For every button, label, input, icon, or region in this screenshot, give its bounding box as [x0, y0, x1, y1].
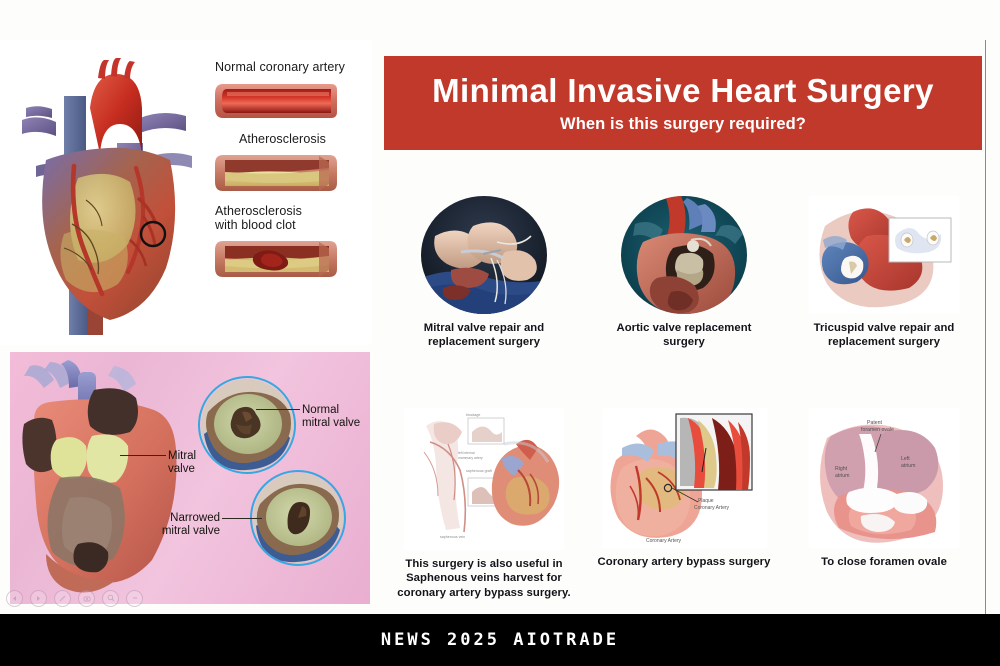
svg-text:blockage: blockage	[466, 413, 480, 417]
bottom-ticker-bar: NEWS 2025 AIOTRADE	[0, 614, 1000, 666]
indication-caption: This surgery is also useful in Saphenous…	[389, 557, 579, 600]
indication-caption: Aortic valve replacement surgery	[596, 321, 772, 350]
play-icon[interactable]	[30, 590, 47, 607]
svg-text:atrium: atrium	[835, 473, 849, 479]
heart-cross-section-illustration	[16, 358, 196, 598]
svg-text:Coronary Artery: Coronary Artery	[694, 505, 730, 511]
indication-caption: To close foramen ovale	[796, 555, 972, 569]
zoom-in-icon[interactable]	[102, 590, 119, 607]
label-narrowed-mitral-valve: Narrowed mitral valve	[128, 512, 220, 539]
title-banner: Minimal Invasive Heart Surgery When is t…	[384, 56, 982, 150]
cabg-diagram: Plaque Coronary Artery Coronary Artery	[602, 408, 767, 548]
atherosclerosis-clot-artery-art	[215, 238, 337, 280]
banner-subtitle: When is this surgery required?	[560, 116, 806, 133]
svg-text:Patent: Patent	[867, 420, 883, 426]
svg-text:atrium: atrium	[901, 463, 915, 469]
normal-coronary-artery-art	[215, 80, 337, 122]
leader-line-narrowed	[222, 518, 262, 519]
slide-right-border	[985, 40, 986, 614]
svg-text:.: .	[869, 305, 870, 309]
indication-caption: Coronary artery bypass surgery	[596, 555, 772, 569]
cancel-icon[interactable]	[54, 590, 71, 607]
indication-caption: Tricuspid valve repair and replacement s…	[796, 321, 972, 350]
artery-label-clot-2: with blood clot	[215, 218, 337, 232]
svg-text:saphenous vein: saphenous vein	[440, 535, 465, 539]
artery-label-atherosclerosis: Atherosclerosis	[239, 132, 337, 146]
zoom-out-icon[interactable]	[126, 590, 143, 607]
artery-label-normal: Normal coronary artery	[215, 60, 345, 74]
panel-coronary-artery: Normal coronary artery	[0, 40, 372, 345]
leader-line-normal	[256, 409, 300, 410]
artery-normal-group: Normal coronary artery	[215, 60, 345, 127]
label-normal-mitral-valve: Normal mitral valve	[302, 404, 360, 431]
svg-text:saphenous graft: saphenous graft	[466, 469, 492, 473]
indication-tricuspid-valve-repair: . Tricuspid valve repair and replacement…	[784, 196, 984, 350]
indication-close-foramen-ovale: Patent foramen ovale Right atrium Left a…	[784, 408, 984, 569]
indication-mitral-valve-repair: Mitral valve repair and replacement surg…	[384, 196, 584, 350]
ticker-text: NEWS 2025 AIOTRADE	[381, 630, 619, 650]
svg-text:Plaque: Plaque	[698, 498, 714, 504]
foramen-ovale-diagram: Patent foramen ovale Right atrium Left a…	[809, 408, 959, 548]
heart-anatomy-illustration	[12, 48, 202, 338]
narrowed-mitral-valve-circle	[250, 470, 346, 566]
svg-text:Right: Right	[835, 466, 848, 472]
indications-grid: Mitral valve repair and replacement surg…	[384, 196, 984, 608]
player-toolbar[interactable]	[6, 588, 158, 608]
indication-aortic-valve-replacement: Aortic valve replacement surgery	[584, 196, 784, 350]
previous-icon[interactable]	[6, 590, 23, 607]
aortic-valve-render	[621, 196, 747, 314]
slide-surface: Normal coronary artery	[0, 0, 1000, 614]
saphenous-vein-diagram: saphenous vein saphenous graft blockage …	[404, 408, 564, 550]
banner-title: Minimal Invasive Heart Surgery	[432, 74, 934, 107]
artery-atherosclerosis-group: Atherosclerosis	[215, 132, 337, 199]
tricuspid-illustration: .	[809, 196, 959, 314]
svg-text:mammary artery: mammary artery	[458, 456, 483, 460]
panel-mitral-valve: Mitral valve	[10, 352, 370, 604]
camera-icon[interactable]	[78, 590, 95, 607]
label-mitral-valve: Mitral valve	[168, 450, 196, 477]
svg-text:left internal: left internal	[458, 451, 475, 455]
mitral-surgery-photo	[421, 196, 547, 314]
artery-clot-group: Atherosclerosis with blood clot	[215, 204, 337, 285]
atherosclerosis-artery-art	[215, 152, 337, 194]
leader-line-mitral	[120, 455, 166, 456]
normal-mitral-valve-circle	[198, 376, 296, 474]
artery-label-clot-1: Atherosclerosis	[215, 204, 337, 218]
indication-coronary-artery-bypass: Plaque Coronary Artery Coronary Artery C…	[584, 408, 784, 569]
video-frame: Normal coronary artery	[0, 0, 1000, 666]
svg-text:foramen ovale: foramen ovale	[861, 427, 894, 433]
indication-saphenous-vein-harvest: saphenous vein saphenous graft blockage …	[384, 408, 584, 600]
indication-caption: Mitral valve repair and replacement surg…	[396, 321, 572, 350]
svg-text:Left: Left	[901, 456, 910, 462]
svg-text:Coronary Artery: Coronary Artery	[646, 538, 682, 544]
